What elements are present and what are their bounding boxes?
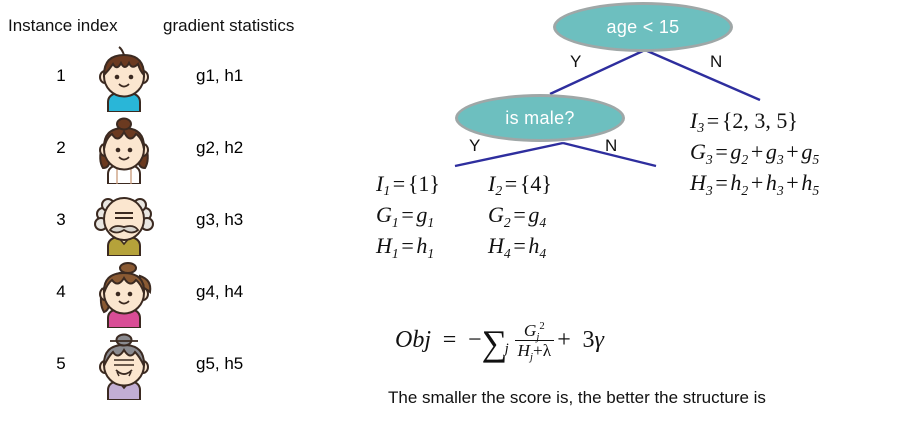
leaf3-G-t1-sub: 2 [741,152,748,167]
leaf3-H-lhs: H [690,170,706,195]
table-row: 1 [0,42,340,114]
young-woman-avatar [88,260,160,328]
denominator-lambda: λ [543,341,551,360]
leaf2-I-set: {4} [520,171,552,196]
leaf3-H-t2-sub: 3 [777,183,784,198]
leaf2-G-lhs: G [488,202,504,227]
numerator-G-sup: 2 [539,320,544,332]
table-row: 4 g4, h4 [0,258,340,330]
leaf2-H: H4=h4 [488,230,552,261]
caption-text: The smaller the score is, the better the… [388,388,766,408]
leaf3-H-t1-sub: 2 [741,183,748,198]
leaf1-G-sub: 1 [392,215,399,230]
denominator-H: H [518,341,530,360]
decision-tree-diagram: age < 15 is male? Y N Y N I1={1} G1=g1 H… [340,0,920,421]
leaf3-G-sub: 3 [706,152,713,167]
old-man-avatar [88,188,160,256]
fraction-numerator: Gj2 [515,320,555,341]
leaf3-H-t2: h [766,170,777,195]
leaf2-H-rhs: h [528,233,539,258]
edge-label-male-no: N [605,136,617,156]
edge-label-male-yes: Y [469,136,480,156]
leaf1-H: H1=h1 [376,230,440,261]
leaf-stats-3: I3={2, 3, 5} G3=g2+g3+g5 H3=h2+h3+h5 [690,105,819,199]
leaf3-H-t3: h [801,170,812,195]
objective-minus: − [468,327,482,353]
row-gradient: g1, h1 [196,66,243,86]
leaf-stats-2: I2={4} G2=g4 H4=h4 [488,168,552,262]
row-index: 3 [48,210,74,230]
leaf3-H-sub: 3 [706,183,713,198]
numerator-G: G [524,321,536,340]
column-header-instance-index: Instance index [8,16,118,36]
row-gradient: g5, h5 [196,354,243,374]
leaf3-G: G3=g2+g3+g5 [690,136,819,167]
tree-node-root[interactable]: age < 15 [553,2,733,52]
fraction-denominator: Hj+λ [515,341,555,360]
leaf3-G-lhs: G [690,139,706,164]
leaf1-G-rhs: g [416,202,427,227]
leaf1-G: G1=g1 [376,199,440,230]
objective-equals: = [443,327,457,353]
slide-canvas: Instance index gradient statistics 1 [0,0,920,421]
row-index: 1 [48,66,74,86]
row-gradient: g2, h2 [196,138,243,158]
table-row: 3 g3, h3 [0,186,340,258]
numerator-G-sub: j [536,331,539,343]
row-index: 2 [48,138,74,158]
leaf1-H-rhs: h [416,233,427,258]
leaf3-I-set: {2, 3, 5} [722,108,798,133]
girl-avatar [88,116,160,184]
leaf3-H: H3=h2+h3+h5 [690,167,819,198]
leaf2-I-sub: 2 [495,183,502,198]
instance-table: Instance index gradient statistics 1 [0,0,340,421]
objective-lhs: Obj [395,327,431,353]
row-index: 5 [48,354,74,374]
leaf3-G-t1: g [730,139,741,164]
leaf1-G-rhs-sub: 1 [427,215,434,230]
leaf2-instances: I2={4} [488,168,552,199]
objective-plus: + [557,327,571,353]
leaf2-H-rhs-sub: 4 [539,246,546,261]
denominator-plus: + [533,341,543,360]
leaf1-G-lhs: G [376,202,392,227]
leaf2-G-rhs: g [528,202,539,227]
leaf3-instances: I3={2, 3, 5} [690,105,819,136]
objective-formula: Obj = −∑jGj2Hj+λ+ 3γ [395,318,604,369]
objective-fraction: Gj2Hj+λ [515,320,555,360]
leaf2-G-rhs-sub: 4 [539,215,546,230]
leaf3-H-t1: h [730,170,741,195]
leaf3-G-t3-sub: 5 [812,152,819,167]
table-row: 5 g5, h5 [0,330,340,402]
row-index: 4 [48,282,74,302]
leaf2-G: G2=g4 [488,199,552,230]
leaf3-G-t2-sub: 3 [777,152,784,167]
edge-label-root-no: N [710,52,722,72]
gamma-coefficient: 3 [583,327,595,353]
leaf2-H-lhs: H [488,233,504,258]
leaf2-G-sub: 2 [504,215,511,230]
leaf3-I-sub: 3 [697,120,704,135]
column-header-gradient-statistics: gradient statistics [163,16,294,36]
old-woman-avatar [88,332,160,400]
summation-index: j [505,341,509,357]
leaf1-instances: I1={1} [376,168,440,199]
leaf1-H-sub: 1 [392,246,399,261]
denominator-H-sub: j [530,351,533,363]
leaf2-H-sub: 4 [504,246,511,261]
leaf1-I-set: {1} [408,171,440,196]
leaf1-H-rhs-sub: 1 [427,246,434,261]
row-gradient: g4, h4 [196,282,243,302]
row-gradient: g3, h3 [196,210,243,230]
leaf1-I-sub: 1 [383,183,390,198]
tree-node-is-male[interactable]: is male? [455,94,625,142]
leaf3-H-t3-sub: 5 [812,183,819,198]
tree-node-root-label: age < 15 [607,17,680,38]
summation-symbol: ∑ [482,318,508,369]
boy-avatar [88,44,160,112]
leaf3-G-t3: g [801,139,812,164]
leaf1-H-lhs: H [376,233,392,258]
gamma-symbol: γ [595,327,604,353]
table-row: 2 g2, h2 [0,114,340,186]
leaf-stats-1: I1={1} G1=g1 H1=h1 [376,168,440,262]
leaf3-G-t2: g [766,139,777,164]
tree-node-is-male-label: is male? [505,108,574,129]
edge-label-root-yes: Y [570,52,581,72]
